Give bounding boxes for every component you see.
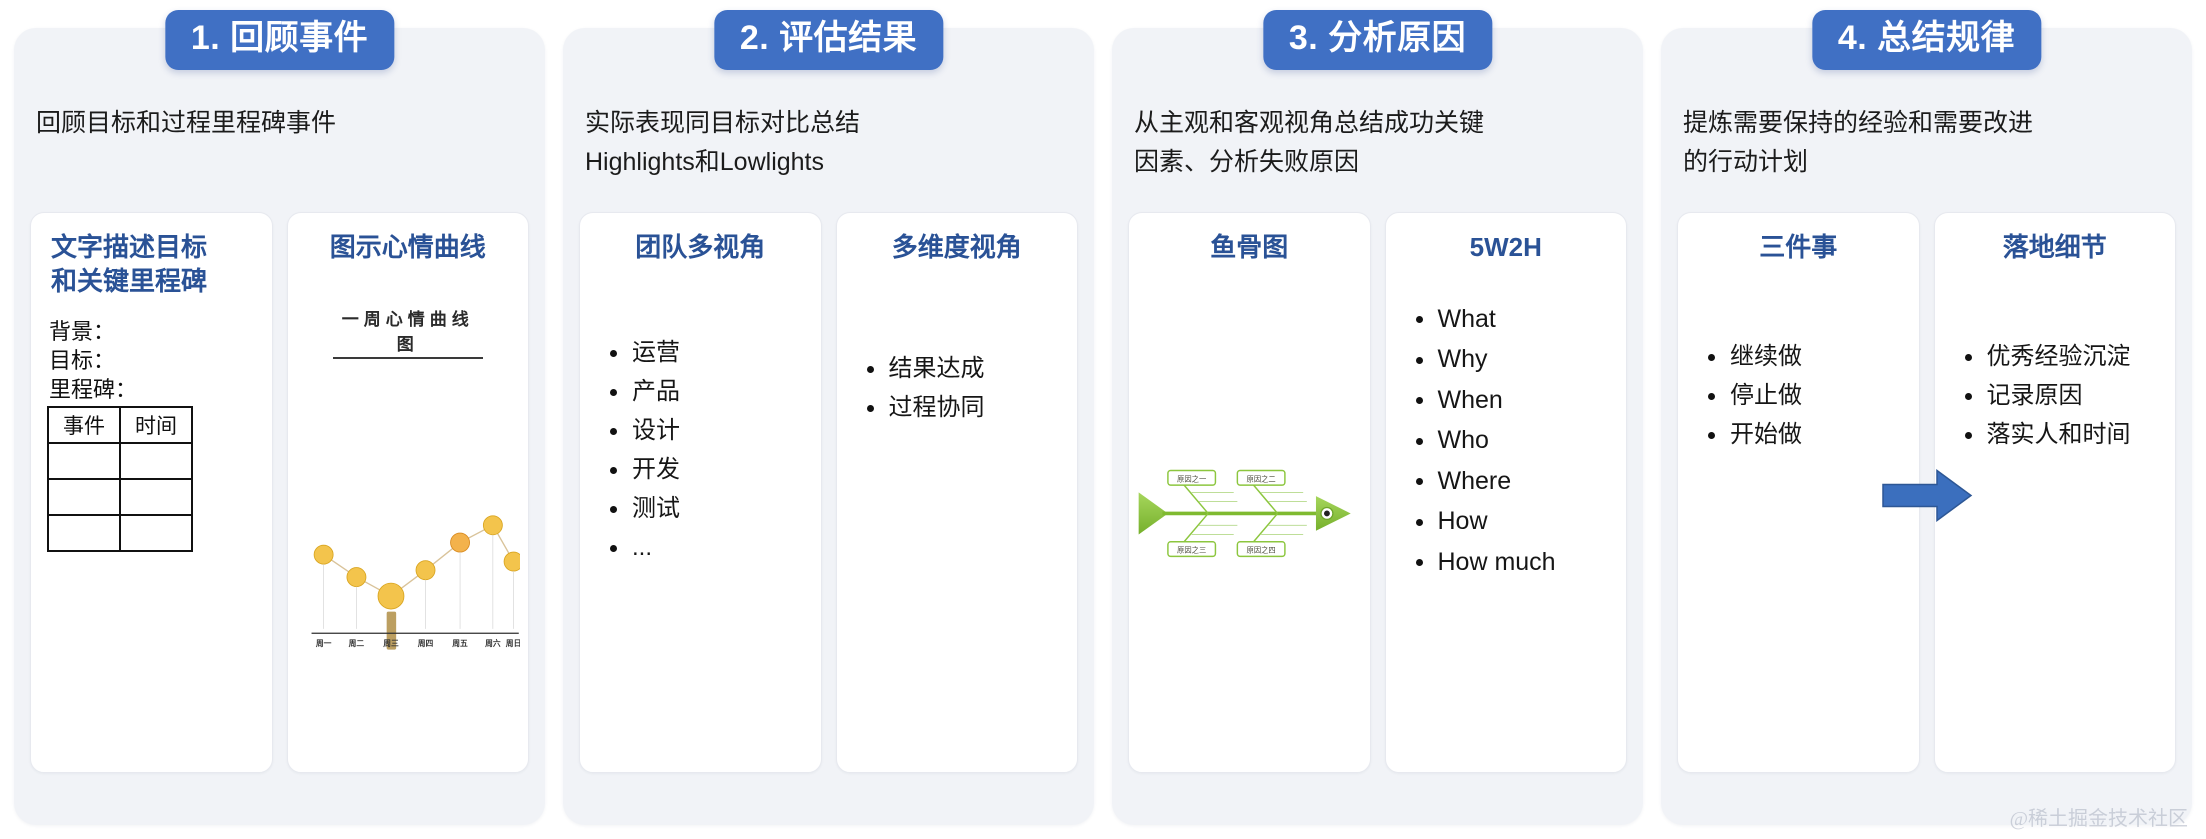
svg-text:周五: 周五 — [452, 639, 468, 648]
card-multi-dimension[interactable]: 多维度视角 结果达成 过程协同 — [836, 212, 1079, 773]
bullet-list: 优秀经验沉淀 记录原因 落实人和时间 — [1949, 339, 2162, 453]
card-landing-details[interactable]: 落地细节 优秀经验沉淀 记录原因 落实人和时间 — [1934, 212, 2177, 773]
fishbone-label-1: 原因之一 — [1177, 474, 1206, 483]
chart-title: 一周心情曲线图 — [333, 305, 483, 359]
x-axis-labels: 周一 周二 周三 周四 周五 周六 周日 — [315, 638, 520, 648]
card-body: 运营 产品 设计 开发 测试 ... — [594, 335, 807, 566]
card-5w2h[interactable]: 5W2H What Why When Who Where How How muc… — [1385, 212, 1628, 773]
list-item: 设计 — [606, 413, 807, 449]
phase-3: 3. 分析原因 从主观和客观视角总结成功关键因素、分析失败原因 鱼骨图 — [1112, 28, 1643, 825]
list-item: 开始做 — [1704, 417, 1905, 453]
card-title: 三件事 — [1692, 231, 1905, 265]
card-body: 背景： 目标： 里程碑： 事件 时间 — [45, 317, 258, 553]
svg-text:周日: 周日 — [505, 639, 520, 648]
svg-text:周二: 周二 — [348, 639, 364, 648]
table-row[interactable] — [48, 515, 192, 551]
field-list: 背景： 目标： 里程碑： — [45, 317, 258, 405]
fishbone-label-2: 原因之二 — [1247, 474, 1276, 483]
bullet-list: 结果达成 过程协同 — [851, 351, 1064, 426]
list-item: 停止做 — [1704, 378, 1905, 414]
list-item: ... — [606, 530, 807, 566]
cell-event[interactable] — [48, 443, 120, 479]
field-milestone: 里程碑： — [49, 375, 258, 404]
list-item: 开发 — [606, 452, 807, 488]
cell-time[interactable] — [120, 443, 192, 479]
card-title: 文字描述目标和关键里程碑 — [45, 231, 258, 299]
table-header-row: 事件 时间 — [48, 407, 192, 443]
list-item: 记录原因 — [1961, 378, 2162, 414]
card-title: 团队多视角 — [594, 231, 807, 265]
card-text-goal-milestone[interactable]: 文字描述目标和关键里程碑 背景： 目标： 里程碑： 事件 时间 — [30, 212, 273, 773]
card-title: 鱼骨图 — [1143, 231, 1356, 265]
mood-chart-svg: 周一 周二 周三 周四 周五 周六 周日 — [296, 363, 521, 769]
svg-text:周四: 周四 — [417, 639, 433, 648]
phase-1-cards: 文字描述目标和关键里程碑 背景： 目标： 里程碑： 事件 时间 — [30, 212, 529, 773]
mood-curve-chart: 一周心情曲线图 — [296, 305, 521, 746]
list-item: What — [1412, 301, 1613, 339]
milestone-table[interactable]: 事件 时间 — [47, 406, 193, 552]
list-item: 落实人和时间 — [1961, 417, 2162, 453]
column-header-time: 时间 — [120, 407, 192, 443]
fishbone-diagram: 原因之一 原因之二 原因之三 原因之四 — [1135, 439, 1364, 594]
list-item: Why — [1412, 341, 1613, 379]
fishbone-label-4: 原因之四 — [1247, 545, 1276, 554]
phase-1: 1. 回顾事件 回顾目标和过程里程碑事件 文字描述目标和关键里程碑 背景： 目标… — [14, 28, 545, 825]
list-item: 测试 — [606, 491, 807, 527]
cell-event[interactable] — [48, 479, 120, 515]
phase-board: 1. 回顾事件 回顾目标和过程里程碑事件 文字描述目标和关键里程碑 背景： 目标… — [0, 0, 2206, 839]
table-row[interactable] — [48, 479, 192, 515]
card-team-perspectives[interactable]: 团队多视角 运营 产品 设计 开发 测试 ... — [579, 212, 822, 773]
list-item: How much — [1412, 544, 1613, 582]
list-item: 继续做 — [1704, 339, 1905, 375]
bullet-list: What Why When Who Where How How much — [1400, 301, 1613, 582]
card-fishbone[interactable]: 鱼骨图 — [1128, 212, 1371, 773]
svg-text:周三: 周三 — [383, 639, 399, 648]
svg-text:周六: 周六 — [485, 638, 501, 648]
fishbone-svg: 原因之一 原因之二 原因之三 原因之四 — [1135, 439, 1364, 589]
card-mood-curve[interactable]: 图示心情曲线 一周心情曲线图 — [287, 212, 530, 773]
card-body: 继续做 停止做 开始做 — [1692, 339, 1905, 453]
phase-4-cards: 三件事 继续做 停止做 开始做 落地细节 优秀经验沉淀 记录原因 落实人和时间 — [1677, 212, 2176, 773]
card-body: 优秀经验沉淀 记录原因 落实人和时间 — [1949, 339, 2162, 453]
phase-3-description: 从主观和客观视角总结成功关键因素、分析失败原因 — [1134, 104, 1621, 216]
phase-1-description: 回顾目标和过程里程碑事件 — [36, 104, 523, 216]
column-header-event: 事件 — [48, 407, 120, 443]
phase-1-badge: 1. 回顾事件 — [165, 10, 394, 70]
card-title: 多维度视角 — [851, 231, 1064, 265]
phase-2-badge: 2. 评估结果 — [714, 10, 943, 70]
cell-time[interactable] — [120, 479, 192, 515]
card-title: 5W2H — [1400, 231, 1613, 265]
list-item: How — [1412, 503, 1613, 541]
fishbone-label-3: 原因之三 — [1177, 545, 1206, 554]
card-title: 落地细节 — [1949, 231, 2162, 265]
list-item: Who — [1412, 422, 1613, 460]
cell-time[interactable] — [120, 515, 192, 551]
list-item: 结果达成 — [863, 351, 1064, 387]
list-item: 过程协同 — [863, 390, 1064, 426]
card-three-things[interactable]: 三件事 继续做 停止做 开始做 — [1677, 212, 1920, 773]
bullet-list: 运营 产品 设计 开发 测试 ... — [594, 335, 807, 566]
phase-3-badge: 3. 分析原因 — [1263, 10, 1492, 70]
bullet-list: 继续做 停止做 开始做 — [1692, 339, 1905, 453]
list-item: 产品 — [606, 374, 807, 410]
phase-2: 2. 评估结果 实际表现同目标对比总结Highlights和Lowlights … — [563, 28, 1094, 825]
phase-2-cards: 团队多视角 运营 产品 设计 开发 测试 ... 多维度视角 结果 — [579, 212, 1078, 773]
list-item: Where — [1412, 463, 1613, 501]
field-background: 背景： — [49, 317, 258, 346]
card-body: 结果达成 过程协同 — [851, 351, 1064, 426]
list-item: When — [1412, 382, 1613, 420]
svg-text:周一: 周一 — [315, 639, 331, 648]
field-goal: 目标： — [49, 346, 258, 375]
list-item: 优秀经验沉淀 — [1961, 339, 2162, 375]
phase-4-description: 提炼需要保持的经验和需要改进的行动计划 — [1683, 104, 2170, 216]
phase-4: 4. 总结规律 提炼需要保持的经验和需要改进的行动计划 三件事 继续做 停止做 … — [1661, 28, 2192, 825]
table-row[interactable] — [48, 443, 192, 479]
card-body: What Why When Who Where How How much — [1400, 301, 1613, 582]
cell-event[interactable] — [48, 515, 120, 551]
phase-4-badge: 4. 总结规律 — [1812, 10, 2041, 70]
mood-points — [314, 516, 520, 650]
list-item: 运营 — [606, 335, 807, 371]
phase-3-cards: 鱼骨图 — [1128, 212, 1627, 773]
card-title: 图示心情曲线 — [302, 231, 515, 265]
phase-2-description: 实际表现同目标对比总结Highlights和Lowlights — [585, 104, 1072, 216]
watermark: @稀土掘金技术社区 — [2010, 802, 2188, 831]
